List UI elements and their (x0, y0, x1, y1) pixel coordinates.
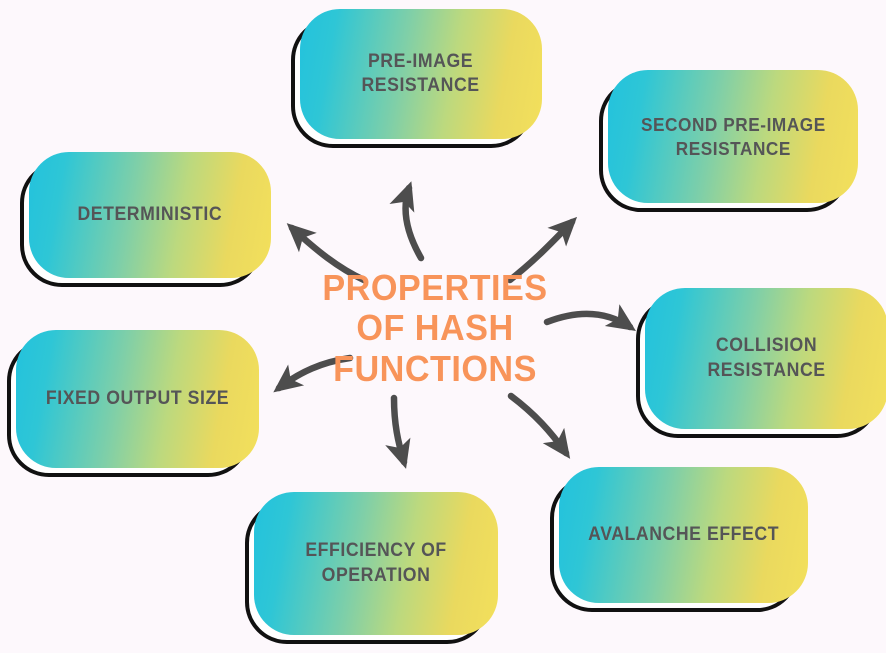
node-avalanche-effect[interactable]: AVALANCHE EFFECT (559, 467, 808, 603)
node-label-efficiency-of-operation: EFFICIENCY OF OPERATION (292, 539, 459, 588)
node-label-deterministic: DETERMINISTIC (65, 203, 236, 227)
center-title: PROPERTIES OF HASH FUNCTIONS (307, 268, 564, 389)
node-efficiency-of-operation[interactable]: EFFICIENCY OF OPERATION (254, 492, 498, 635)
node-card: DETERMINISTIC (29, 152, 271, 278)
node-label-fixed-output-size: FIXED OUTPUT SIZE (33, 387, 242, 411)
node-second-pre-image-resistance[interactable]: SECOND PRE-IMAGE RESISTANCE (608, 70, 858, 203)
arrow-to-avalanche-effect (511, 396, 566, 453)
node-label-pre-image-resistance: PRE-IMAGE RESISTANCE (349, 50, 493, 99)
node-pre-image-resistance[interactable]: PRE-IMAGE RESISTANCE (300, 9, 542, 139)
node-label-avalanche-effect: AVALANCHE EFFECT (575, 523, 792, 547)
diagram-canvas: PRE-IMAGE RESISTANCE SECOND PRE-IMAGE RE… (0, 0, 886, 653)
node-deterministic[interactable]: DETERMINISTIC (29, 152, 271, 278)
node-card: SECOND PRE-IMAGE RESISTANCE (608, 70, 858, 203)
arrow-to-efficiency-of-operation (394, 398, 404, 462)
arrow-to-pre-image-resistance (406, 188, 421, 258)
node-collision-resistance[interactable]: COLLISION RESISTANCE (645, 288, 886, 429)
node-card: COLLISION RESISTANCE (645, 288, 886, 429)
node-card: PRE-IMAGE RESISTANCE (300, 9, 542, 139)
node-card: FIXED OUTPUT SIZE (16, 330, 259, 468)
node-fixed-output-size[interactable]: FIXED OUTPUT SIZE (16, 330, 259, 468)
node-card: EFFICIENCY OF OPERATION (254, 492, 498, 635)
node-label-second-pre-image-resistance: SECOND PRE-IMAGE RESISTANCE (628, 113, 839, 160)
node-card: AVALANCHE EFFECT (559, 467, 808, 603)
node-label-collision-resistance: COLLISION RESISTANCE (694, 334, 838, 383)
